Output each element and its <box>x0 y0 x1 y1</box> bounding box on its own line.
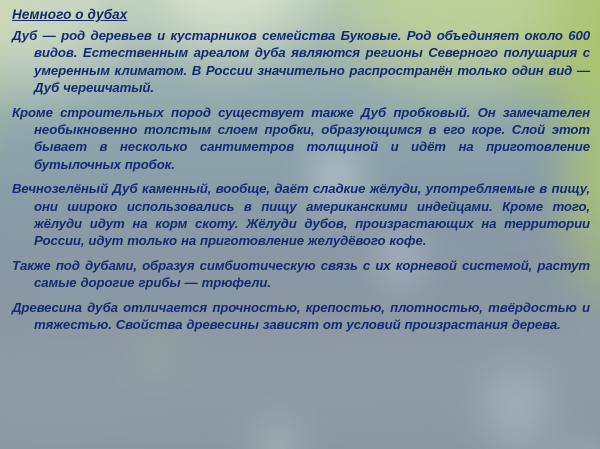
paragraph-holm-oak-acorns: Вечнозелёный Дуб каменный, вообще, даёт … <box>12 180 590 250</box>
paragraph-oak-wood: Древесина дуба отличается прочностью, кр… <box>12 299 590 334</box>
paragraph-cork-oak: Кроме строительных пород существует такж… <box>12 104 590 174</box>
presentation-slide: Немного о дубах Дуб — род деревьев и кус… <box>0 0 600 449</box>
slide-content: Немного о дубах Дуб — род деревьев и кус… <box>12 6 590 334</box>
slide-title: Немного о дубах <box>12 6 590 23</box>
paragraph-oak-genus: Дуб — род деревьев и кустарников семейст… <box>12 27 590 97</box>
paragraph-truffles: Также под дубами, образуя симбиотическую… <box>12 257 590 292</box>
